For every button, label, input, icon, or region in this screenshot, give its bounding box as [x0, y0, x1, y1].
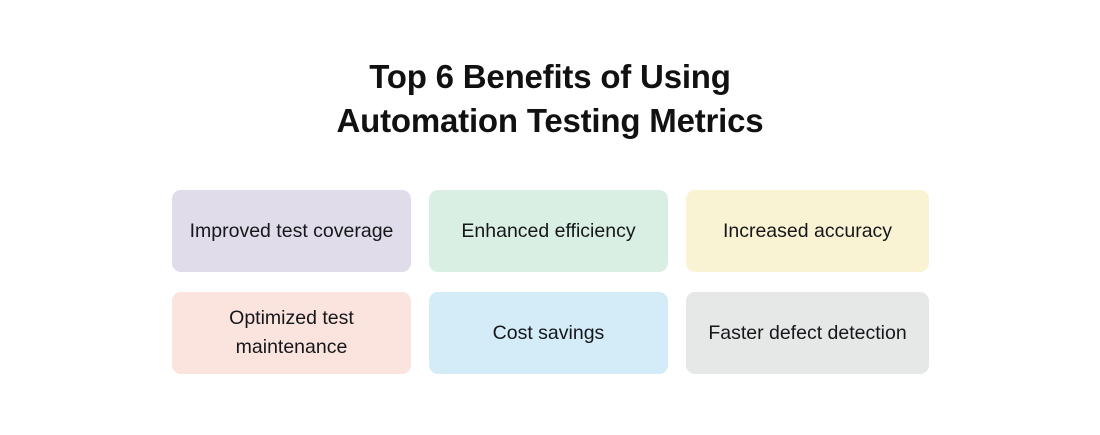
benefit-card-enhanced-efficiency: Enhanced efficiency [429, 190, 668, 272]
page-title-line-2: Automation Testing Metrics [0, 99, 1100, 143]
benefit-card-label: Optimized test maintenance [186, 304, 397, 362]
benefits-grid: Improved test coverage Enhanced efficien… [172, 190, 929, 374]
benefit-card-label: Enhanced efficiency [461, 217, 635, 246]
benefit-card-cost-savings: Cost savings [429, 292, 668, 374]
benefit-card-increased-accuracy: Increased accuracy [686, 190, 929, 272]
benefit-card-improved-test-coverage: Improved test coverage [172, 190, 411, 272]
benefit-card-label: Faster defect detection [708, 319, 906, 348]
benefit-card-label: Increased accuracy [723, 217, 892, 246]
benefit-card-label: Improved test coverage [190, 217, 394, 246]
page-title: Top 6 Benefits of Using Automation Testi… [0, 55, 1100, 143]
benefit-card-optimized-test-maintenance: Optimized test maintenance [172, 292, 411, 374]
benefit-card-faster-defect-detection: Faster defect detection [686, 292, 929, 374]
infographic-root: Top 6 Benefits of Using Automation Testi… [0, 0, 1100, 435]
benefit-card-label: Cost savings [493, 319, 605, 348]
page-title-line-1: Top 6 Benefits of Using [0, 55, 1100, 99]
